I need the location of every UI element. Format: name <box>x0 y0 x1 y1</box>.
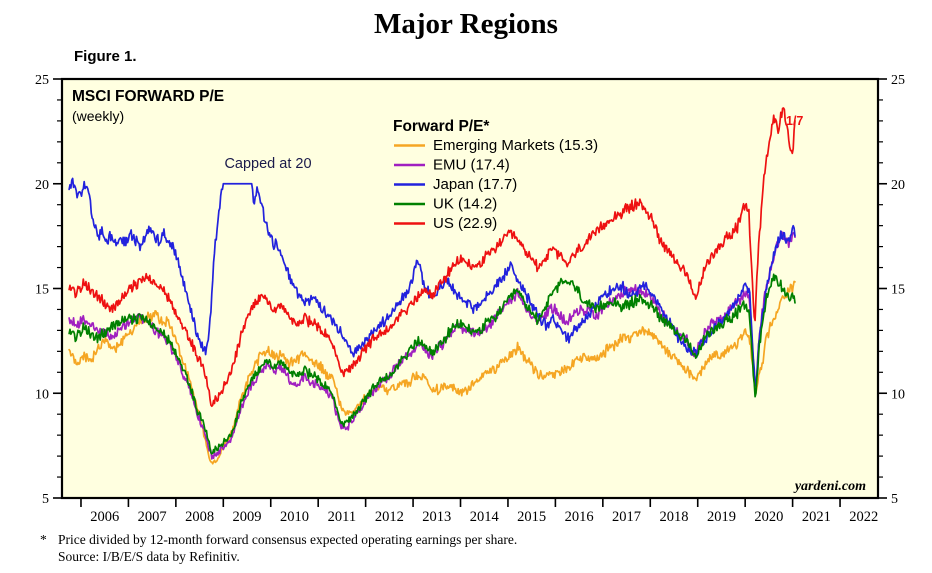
line-chart: 5510101515202025252006200720082009201020… <box>0 0 932 573</box>
watermark: yardeni.com <box>793 479 866 494</box>
legend-label-emu: EMU (17.4) <box>433 157 510 174</box>
x-axis-label: 2011 <box>328 509 356 525</box>
plot-inside-subtitle: (weekly) <box>72 108 124 124</box>
x-axis-label: 2020 <box>754 509 783 525</box>
footnote-marker: * <box>40 531 58 548</box>
y-axis-label-left: 10 <box>35 387 49 402</box>
annotation-capped-at-20: Capped at 20 <box>224 156 311 172</box>
footnotes: *Price divided by 12-month forward conse… <box>40 531 740 566</box>
x-axis-label: 2007 <box>138 509 167 525</box>
legend-label-uk: UK (14.2) <box>433 196 497 213</box>
x-axis-label: 2012 <box>375 509 404 525</box>
x-axis-label: 2008 <box>185 509 214 525</box>
x-axis-label: 2010 <box>280 509 309 525</box>
footnote-line-1: Price divided by 12-month forward consen… <box>58 531 718 548</box>
y-axis-label-right: 25 <box>891 73 905 88</box>
y-axis-label-left: 25 <box>35 73 49 88</box>
x-axis-label: 2019 <box>707 509 736 525</box>
x-axis-label: 2018 <box>660 509 689 525</box>
y-axis-label-right: 10 <box>891 387 905 402</box>
legend-label-us: US (22.9) <box>433 215 497 232</box>
y-axis-label-right: 15 <box>891 283 905 298</box>
chart-container: 5510101515202025252006200720082009201020… <box>0 0 932 573</box>
x-axis-label: 2014 <box>470 509 500 525</box>
legend-label-japan: Japan (17.7) <box>433 176 517 193</box>
x-axis-label: 2015 <box>517 509 546 525</box>
x-axis-label: 2009 <box>233 509 262 525</box>
y-axis-label-right: 5 <box>891 492 898 507</box>
y-axis-label-left: 15 <box>35 283 49 298</box>
x-axis-label: 2022 <box>849 509 878 525</box>
annotation-last-date: 1/7 <box>786 114 803 128</box>
y-axis-label-left: 5 <box>42 492 49 507</box>
x-axis-label: 2021 <box>802 509 831 525</box>
plot-inside-title: MSCI FORWARD P/E <box>72 88 224 105</box>
y-axis-label-left: 20 <box>35 178 49 193</box>
y-axis-label-right: 20 <box>891 178 905 193</box>
x-axis-label: 2013 <box>422 509 451 525</box>
x-axis-label: 2006 <box>90 509 119 525</box>
x-axis-label: 2017 <box>612 509 641 525</box>
legend-title: Forward P/E* <box>393 118 490 135</box>
footnote-line-2: Source: I/B/E/S data by Refinitiv. <box>58 548 740 565</box>
legend-label-em: Emerging Markets (15.3) <box>433 137 598 154</box>
x-axis-label: 2016 <box>565 509 594 525</box>
